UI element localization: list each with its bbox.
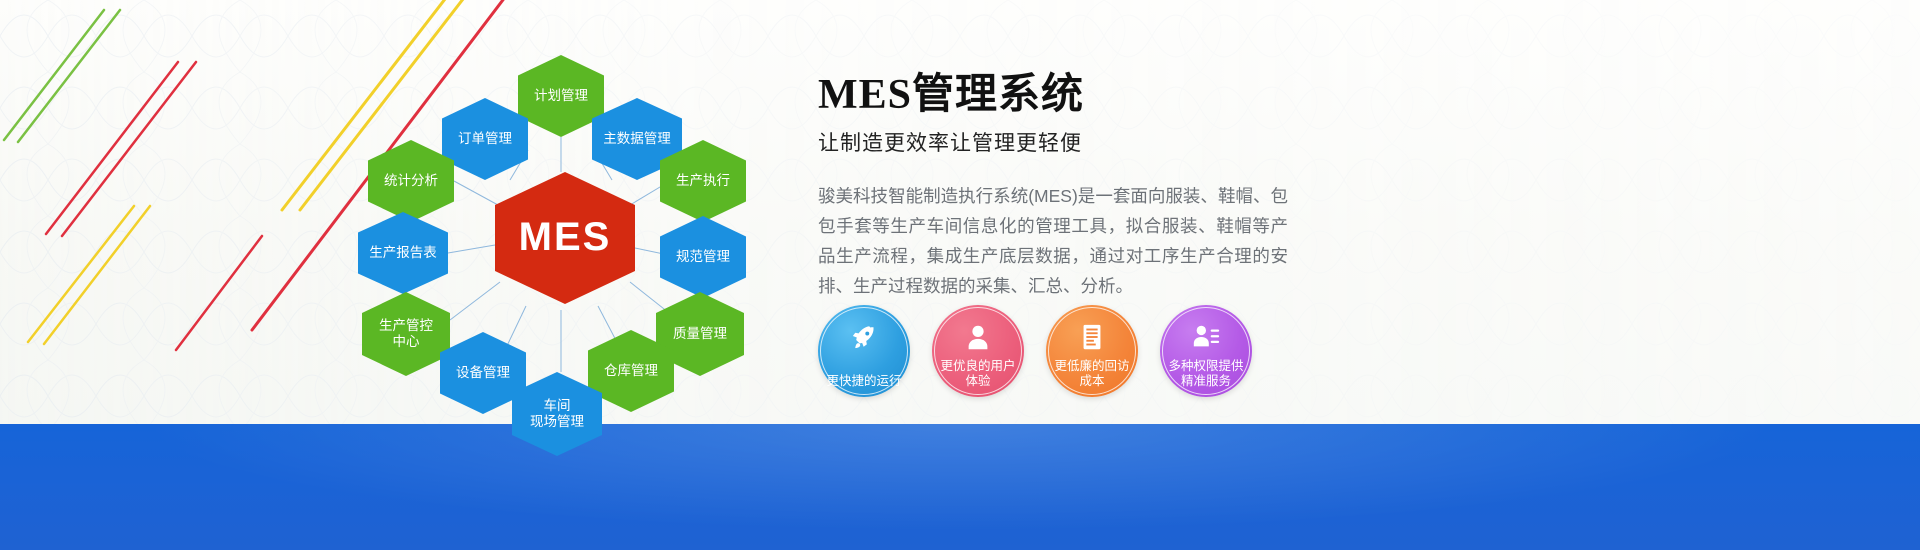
- badge-better-experience[interactable]: 更优良的用户体验: [932, 305, 1024, 397]
- user-icon: [963, 322, 993, 352]
- hex-node-label: 订单管理: [458, 131, 512, 147]
- hex-center-label: MES: [519, 214, 612, 261]
- hex-node-label: 主数据管理: [603, 131, 671, 147]
- badge-label: 多种权限提供精准服务: [1163, 359, 1249, 390]
- hex-node-label: 规范管理: [676, 249, 730, 265]
- banner-content: MES管理系统 让制造更效率让管理更轻便 骏美科技智能制造执行系统(MES)是一…: [818, 60, 1458, 301]
- badge-lower-cost[interactable]: 更低廉的回访成本: [1046, 305, 1138, 397]
- rocket-icon: [849, 322, 879, 352]
- hex-node-label: 生产报告表: [369, 245, 437, 261]
- hex-node-label: 生产执行: [676, 173, 730, 189]
- page-title: MES管理系统: [818, 60, 1458, 121]
- hex-node-label: 设备管理: [456, 365, 510, 381]
- banner-root: MES 计划管理 订单管理 主数据管理 统计分析 生产执行 生产报告表 规范管理…: [0, 0, 1920, 550]
- badge-label: 更低廉的回访成本: [1049, 359, 1135, 390]
- page-subtitle: 让制造更效率让管理更轻便: [818, 127, 1458, 157]
- hex-node-label: 质量管理: [673, 326, 727, 342]
- badge-label: 更快捷的运行: [821, 374, 907, 389]
- hex-node-label: 仓库管理: [604, 363, 658, 379]
- hex-node-label: 车间现场管理: [530, 398, 584, 430]
- badge-permissions[interactable]: 多种权限提供精准服务: [1160, 305, 1252, 397]
- badge-label: 更优良的用户体验: [935, 359, 1021, 390]
- hex-node-label: 统计分析: [384, 173, 438, 189]
- feature-badges: 更快捷的运行 更优良的用户体验 更低廉的回访成本: [818, 305, 1252, 397]
- document-icon: [1077, 322, 1107, 352]
- description-paragraph: 骏美科技智能制造执行系统(MES)是一套面向服装、鞋帽、包包手套等生产车间信息化…: [818, 181, 1288, 301]
- permissions-icon: [1191, 322, 1221, 352]
- mes-hexagon-diagram: MES 计划管理 订单管理 主数据管理 统计分析 生产执行 生产报告表 规范管理…: [330, 20, 800, 440]
- bottom-band-sheen: [0, 424, 1920, 550]
- hex-node-label: 生产管控中心: [379, 318, 433, 350]
- hex-node-label: 计划管理: [534, 88, 588, 104]
- badge-faster-operation[interactable]: 更快捷的运行: [818, 305, 910, 397]
